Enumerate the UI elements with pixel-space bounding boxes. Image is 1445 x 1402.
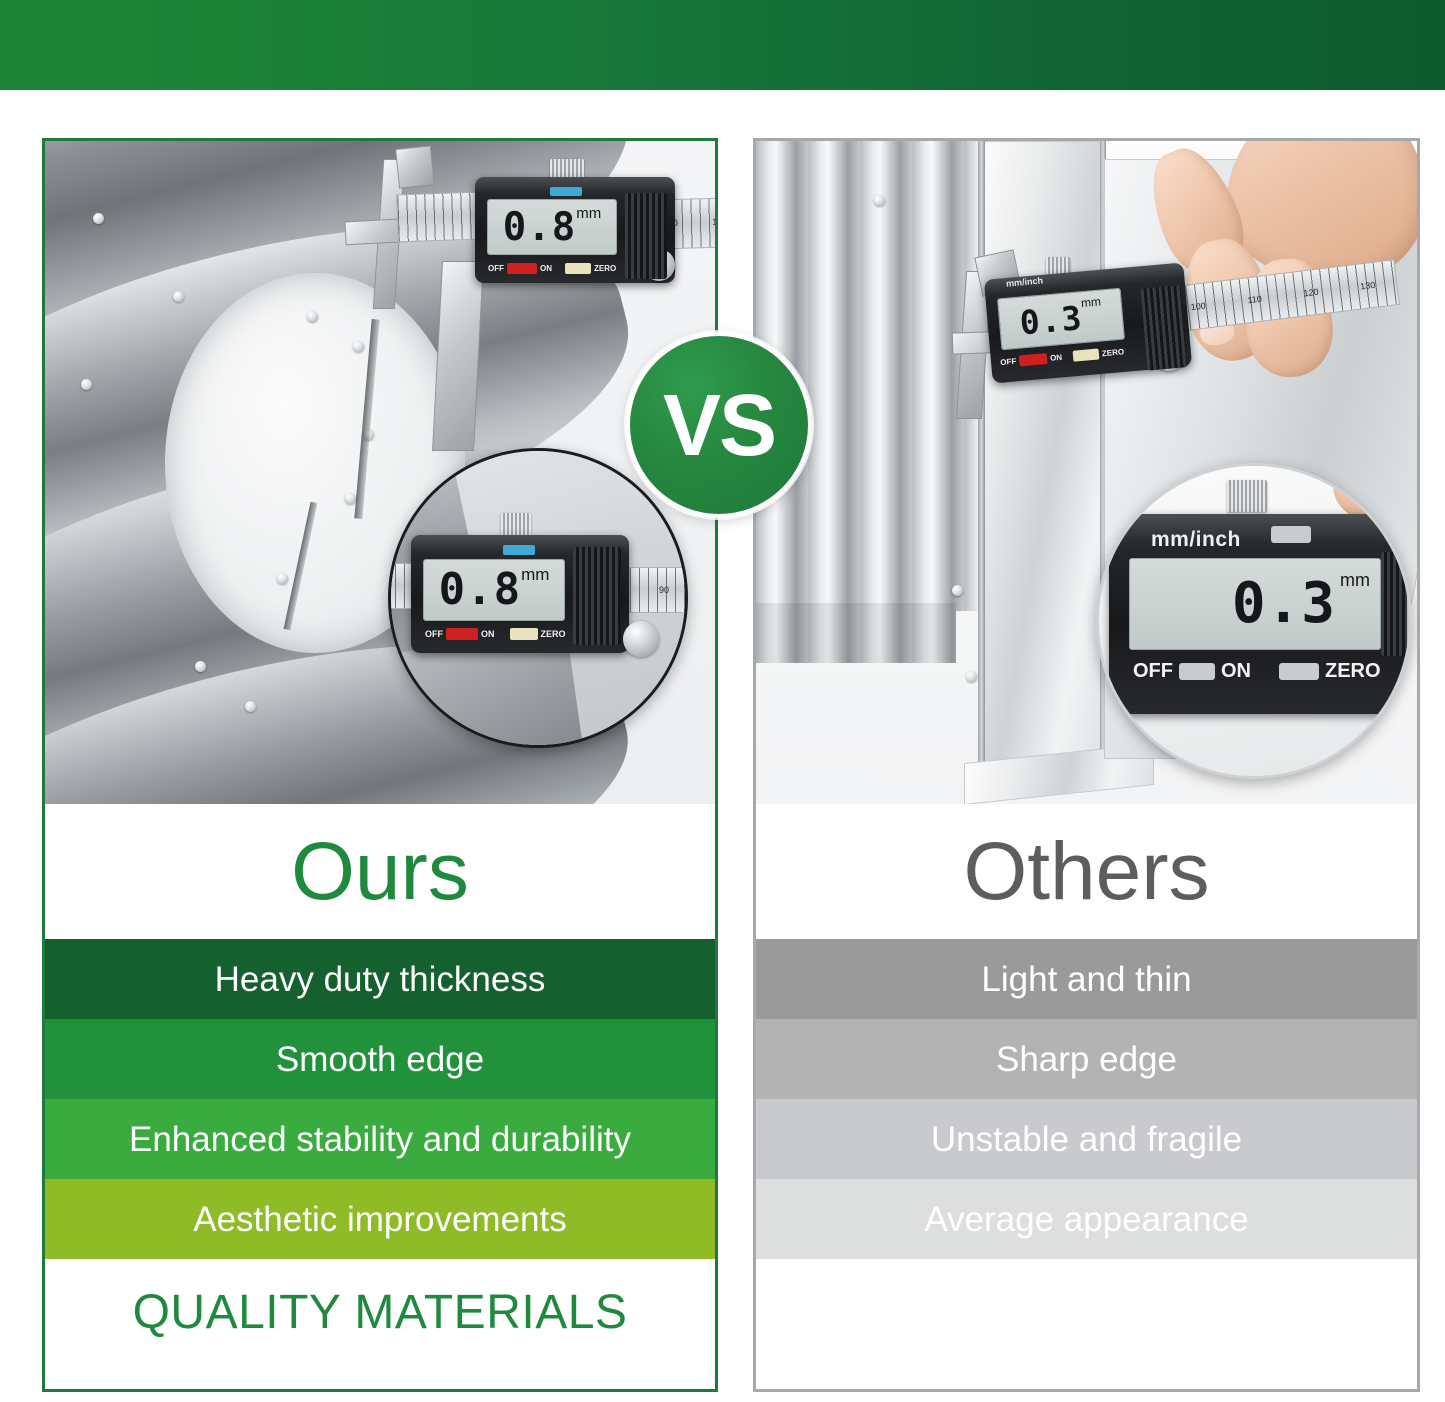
caliper-power-switch[interactable] [1019,353,1048,366]
heading-zone-ours: Ours [45,804,715,939]
caliper-off-label: OFF [1133,660,1173,683]
rivet [93,213,104,224]
caliper-zero-button[interactable] [1279,663,1319,680]
caliper-reading-unit: mm [521,566,549,583]
caliper-indicator-chip [503,545,535,555]
caliper-reading-unit: mm [1340,571,1370,589]
caliper-power-switch[interactable] [507,263,537,274]
caliper-zero-label: ZERO [541,629,566,639]
magnified-caliper-mode-label: mm/inch [1151,528,1241,552]
caliper-off-label: OFF [488,264,504,273]
product-photo-others: 100 110 120 130 0.3 mm mm/inch OFF ON ZE… [756,141,1417,804]
caliper-reading-unit: mm [1080,295,1101,309]
feature-label: Aesthetic improvements [193,1202,566,1237]
caliper-zero-button[interactable] [565,263,591,274]
caliper-reading-unit: mm [576,206,601,221]
caliper-grip-ridges [573,547,621,645]
caliper-power-switch[interactable] [446,628,478,640]
caliper-zero-button[interactable] [1073,348,1100,361]
feature-label: Unstable and fragile [931,1122,1242,1157]
fastener [952,585,963,596]
magnified-ruler-right: 90 [629,567,688,613]
metal-sheet-vertical [978,141,1106,769]
corrugated-panel-edge [756,603,956,663]
comparison-panel-others: 100 110 120 130 0.3 mm mm/inch OFF ON ZE… [753,138,1420,1392]
feature-bar-ours-4: Aesthetic improvements [45,1179,715,1259]
ruler-mark: 110 [712,217,715,227]
rivet [81,379,92,390]
caliper-zero-label: ZERO [1101,347,1124,358]
caliper-grip-ridges [1381,552,1407,656]
product-photo-ours: 90 100 110 0.8 mm OFF ON ZERO [45,141,715,804]
rivet [353,341,364,352]
heading-zone-others: Others [756,804,1417,939]
caliper-reading-value: 0.3 [1232,576,1336,632]
ruler-ticks [397,193,479,242]
caliper-ruler-scale-left [396,192,480,243]
feature-label: Average appearance [924,1202,1248,1237]
feature-bar-others-2: Sharp edge [756,1019,1417,1099]
sheet-edge [978,141,985,769]
feature-label: Light and thin [981,962,1191,997]
caliper-zero-label: ZERO [1325,660,1381,683]
rivet [345,493,356,504]
feature-bar-others-1: Light and thin [756,939,1417,1019]
caliper-on-label: ON [1050,352,1063,362]
rivet [307,311,318,322]
feature-label: Sharp edge [996,1042,1177,1077]
caliper-reading-value: 0.8 [439,568,521,612]
feature-bar-others-3: Unstable and fragile [756,1099,1417,1179]
ruler-mark: 100 [1190,300,1206,312]
caliper-on-label: ON [540,264,552,273]
page-title-others: Others [963,831,1209,913]
vs-label: VS [663,382,775,469]
caliper-lcd-ours: 0.8 mm [487,199,617,255]
caliper-grip-ridges [1141,285,1188,370]
caliper-reading-value: 0.3 [1018,301,1083,339]
feature-bar-ours-3: Enhanced stability and durability [45,1099,715,1179]
rivet [173,291,184,302]
feature-bar-others-4: Average appearance [756,1179,1417,1259]
feature-label: Heavy duty thickness [215,962,546,997]
rivet [195,661,206,672]
slogan-zone-others [756,1259,1417,1367]
magnified-thumb-screw[interactable] [1227,480,1267,512]
comparison-panel-ours: 90 100 110 0.8 mm OFF ON ZERO [42,138,718,1392]
rivet [245,701,256,712]
feature-bar-ours-1: Heavy duty thickness [45,939,715,1019]
magnified-caliper-lcd-others: 0.3 mm [1129,558,1381,650]
caliper-zero-button[interactable] [510,628,538,640]
caliper-off-label: OFF [425,629,443,639]
caliper-mode-button[interactable] [1271,526,1311,543]
rivet [277,573,288,584]
caliper-power-switch[interactable] [1179,663,1215,680]
vs-badge: VS [626,332,812,518]
caliper-jaw-tip [395,145,435,189]
feature-bar-ours-2: Smooth edge [45,1019,715,1099]
caliper-button-row: OFF ON ZERO [488,261,623,275]
magnified-caliper-button-row: OFF ON ZERO [425,627,575,641]
ruler-numbers: 90 [630,585,688,595]
magnifier-inset-others: mm/inch 0.3 mm OFF ON ZERO [1096,463,1412,779]
quality-materials-slogan: QUALITY MATERIALS [133,1289,628,1337]
fastener [966,671,977,682]
feature-label: Smooth edge [276,1042,484,1077]
caliper-roller-knob[interactable] [623,621,659,657]
caliper-on-label: ON [481,629,495,639]
caliper-grip-ridges [625,193,667,279]
caliper-off-label: OFF [1000,356,1017,366]
caliper-zero-label: ZERO [594,264,616,273]
caliper-on-label: ON [1221,660,1251,683]
ruler-mark: 90 [659,585,669,595]
page-title-ours: Ours [291,831,469,913]
top-banner [0,0,1445,90]
magnifier-inset-ours: 90 0.8 mm OFF ON ZERO [388,448,688,748]
ruler-mark: 130 [1360,279,1376,291]
fastener [874,195,885,206]
magnified-caliper-button-row: OFF ON ZERO [1133,658,1391,684]
magnified-caliper-lcd-ours: 0.8 mm [423,559,565,621]
caliper-indicator-chip [550,187,582,196]
caliper-lcd-others: 0.3 mm [997,288,1125,351]
caliper-reading-value: 0.8 [503,208,576,247]
slogan-zone-ours: QUALITY MATERIALS [45,1259,715,1367]
ruler-mark: 120 [1303,286,1319,298]
feature-label: Enhanced stability and durability [129,1122,631,1157]
ruler-mark: 110 [1247,293,1262,305]
